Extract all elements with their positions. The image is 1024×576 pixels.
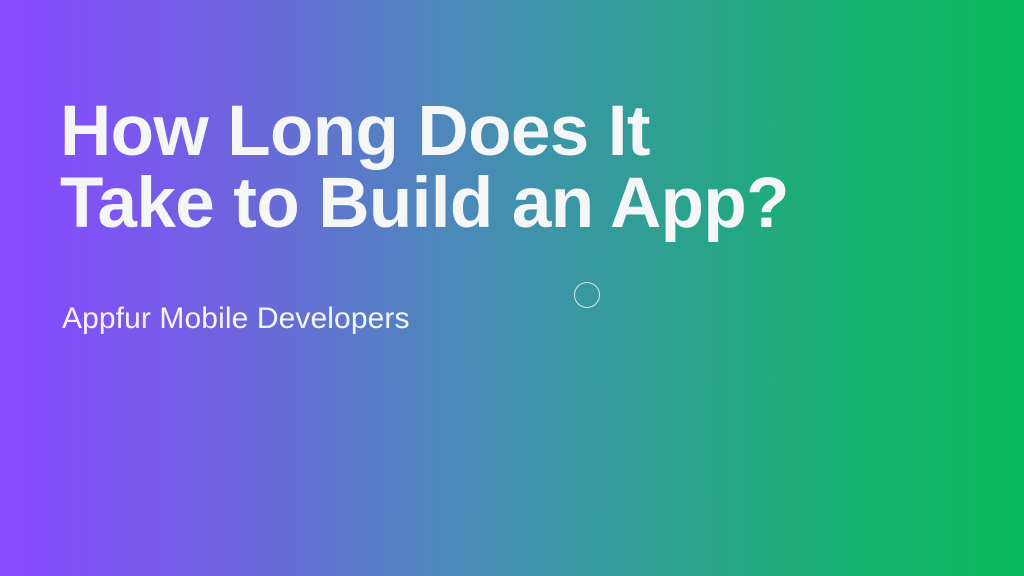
subtitle-block: Appfur Mobile Developers xyxy=(62,300,762,338)
page-title: How Long Does It Take to Build an App? xyxy=(60,96,980,240)
title-block: How Long Does It Take to Build an App? xyxy=(60,96,980,240)
presentation-slide: How Long Does It Take to Build an App? A… xyxy=(0,0,1024,576)
slide-subtitle: Appfur Mobile Developers xyxy=(62,300,762,338)
